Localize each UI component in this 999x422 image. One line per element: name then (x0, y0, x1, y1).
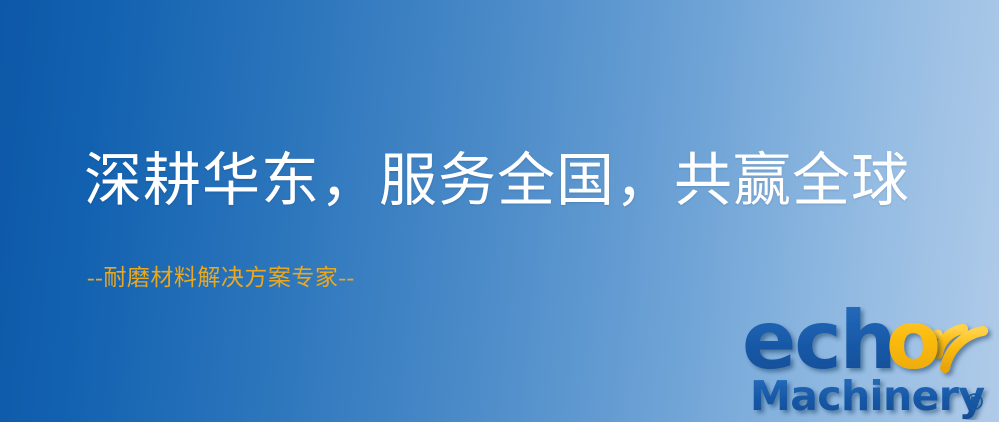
hero-banner: 深耕华东，服务全国，共赢全球 --耐磨材料解决方案专家-- (0, 0, 999, 422)
banner-subtitle: --耐磨材料解决方案专家-- (87, 266, 355, 289)
banner-headline: 深耕华东，服务全国，共赢全球 (84, 152, 910, 210)
logo-tagline: Machinery (750, 372, 985, 420)
echo-machinery-logo[interactable]: ech o Machinery ® (742, 292, 994, 420)
registered-trademark-icon: ® (963, 390, 986, 416)
